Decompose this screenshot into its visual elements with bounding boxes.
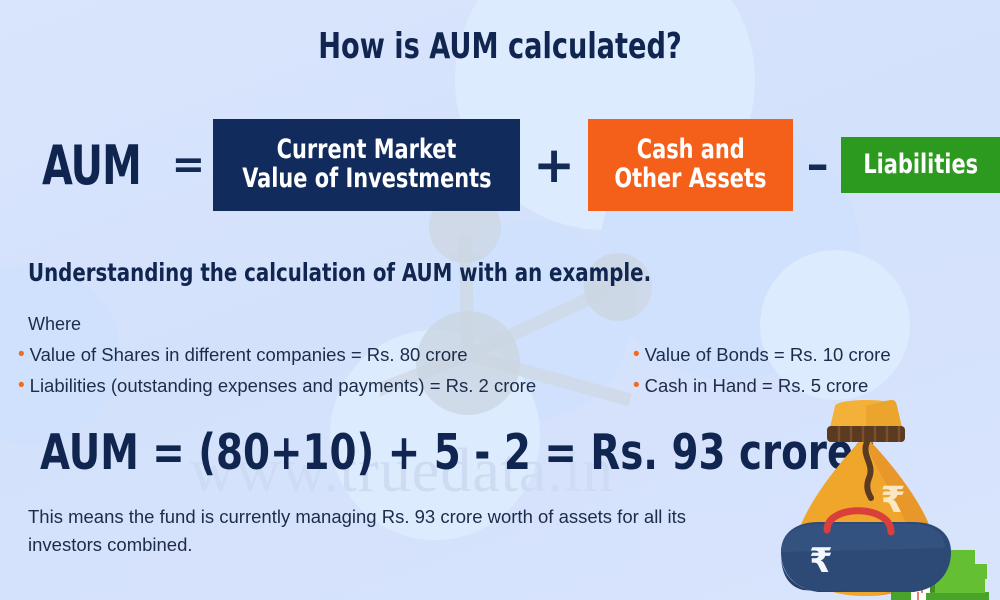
rupee-symbol-wallet: ₹ bbox=[809, 541, 833, 581]
list-item-label: Cash in Hand = Rs. 5 crore bbox=[645, 375, 869, 397]
list-item-label: Liabilities (outstanding expenses and pa… bbox=[30, 375, 536, 397]
plus-operator: + bbox=[533, 140, 575, 190]
list-item: • Cash in Hand = Rs. 5 crore bbox=[633, 375, 891, 401]
formula-term-line1: Cash and bbox=[636, 136, 744, 165]
wallet-top-shading bbox=[781, 524, 945, 552]
assumptions-list-right: • Value of Bonds = Rs. 10 crore • Cash i… bbox=[633, 344, 891, 406]
list-item-label: Value of Shares in different companies =… bbox=[30, 344, 468, 366]
closing-paragraph: This means the fund is currently managin… bbox=[28, 503, 718, 559]
formula-subject-label: AUM bbox=[42, 134, 163, 197]
assumptions-list-left: • Value of Shares in different companies… bbox=[18, 344, 536, 406]
bullet-dot-icon: • bbox=[633, 376, 640, 395]
formula-term-line2: Other Assets bbox=[614, 165, 766, 194]
equals-operator: = bbox=[172, 145, 206, 185]
formula-term-line1: Current Market bbox=[277, 136, 457, 165]
list-item: • Value of Bonds = Rs. 10 crore bbox=[633, 344, 891, 370]
formula-term-line2: Value of Investments bbox=[242, 165, 491, 194]
list-item: • Value of Shares in different companies… bbox=[18, 344, 536, 370]
money-bag-illustration: ₹ bbox=[763, 400, 998, 600]
page-title: How is AUM calculated? bbox=[80, 26, 920, 67]
formula-term-liabilities: Liabilities bbox=[841, 137, 1000, 193]
formula-term-current-market-value: Current Market Value of Investments bbox=[213, 119, 520, 211]
example-heading: Understanding the calculation of AUM wit… bbox=[28, 258, 651, 287]
bullet-dot-icon: • bbox=[633, 345, 640, 364]
bullet-dot-icon: • bbox=[18, 345, 25, 364]
minus-operator: – bbox=[807, 143, 829, 187]
infographic-canvas: www.truedata.in How is AUM calculated? A… bbox=[0, 0, 1000, 600]
formula-term-cash-and-other-assets: Cash and Other Assets bbox=[588, 119, 793, 211]
aum-formula-row: AUM = Current Market Value of Investment… bbox=[0, 112, 1000, 218]
bullet-dot-icon: • bbox=[18, 376, 25, 395]
where-label: Where bbox=[28, 314, 81, 335]
list-item: • Liabilities (outstanding expenses and … bbox=[18, 375, 536, 401]
aum-result-equation: AUM = (80+10) + 5 - 2 = Rs. 93 crores bbox=[40, 424, 876, 481]
list-item-label: Value of Bonds = Rs. 10 crore bbox=[645, 344, 891, 366]
formula-term-line1: Liabilities bbox=[863, 151, 978, 180]
